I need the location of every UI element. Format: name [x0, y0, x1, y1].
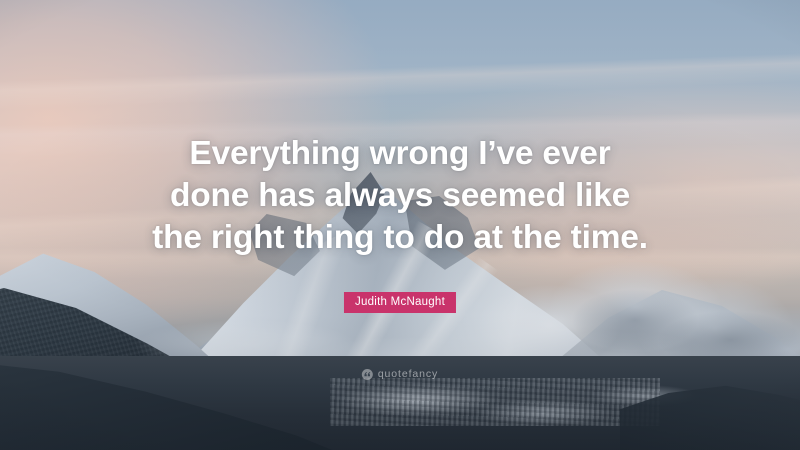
quote-image: Everything wrong I’ve ever done has alwa…	[0, 0, 800, 450]
author-badge: Judith McNaught	[344, 292, 456, 313]
quote-text: Everything wrong I’ve ever done has alwa…	[70, 133, 730, 259]
quote-block: Everything wrong I’ve ever done has alwa…	[0, 133, 800, 259]
quote-mark-icon	[362, 369, 373, 380]
watermark-brand: quotefancy	[378, 369, 438, 380]
watermark[interactable]: quotefancy	[362, 369, 438, 380]
overlay-content: Everything wrong I’ve ever done has alwa…	[0, 0, 800, 450]
